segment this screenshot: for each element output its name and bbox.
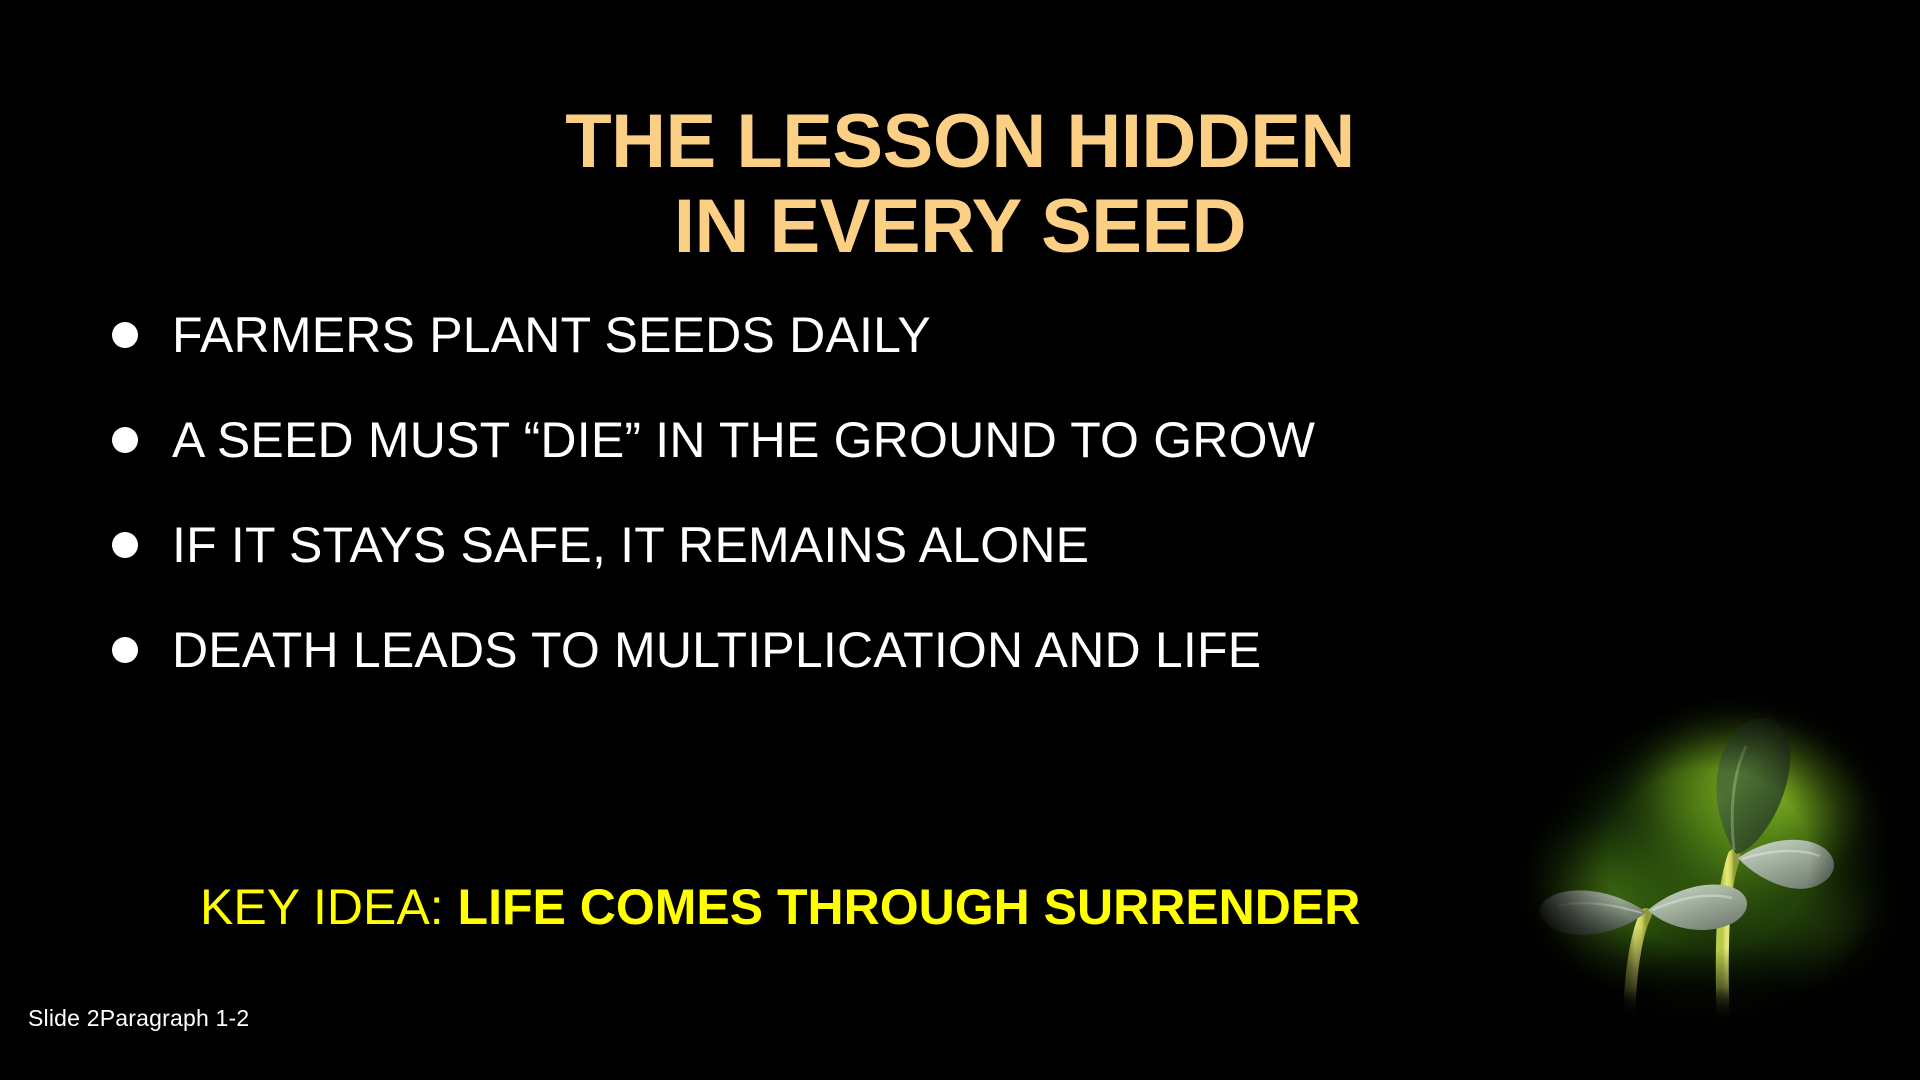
key-idea-value: LIFE COMES THROUGH SURRENDER — [458, 879, 1361, 935]
bullet-item: A SEED MUST “DIE” IN THE GROUND TO GROW — [112, 387, 1532, 492]
seedling-photo-inner — [1480, 672, 1920, 1080]
bullet-item: DEATH LEADS TO MULTIPLICATION AND LIFE — [112, 597, 1532, 702]
bullet-item-label: DEATH LEADS TO MULTIPLICATION AND LIFE — [172, 621, 1261, 679]
bullet-item-label: FARMERS PLANT SEEDS DAILY — [172, 306, 931, 364]
slide-title-line-2: IN EVERY SEED — [0, 184, 1920, 269]
bullet-point-icon — [112, 322, 138, 348]
key-idea-label: KEY IDEA: — [200, 879, 458, 935]
bullet-item: IF IT STAYS SAFE, IT REMAINS ALONE — [112, 492, 1532, 597]
bullet-item-label: IF IT STAYS SAFE, IT REMAINS ALONE — [172, 516, 1089, 574]
bullet-list: FARMERS PLANT SEEDS DAILY A SEED MUST “D… — [112, 282, 1532, 702]
bullet-point-icon — [112, 637, 138, 663]
slide-title-line-1: THE LESSON HIDDEN — [0, 99, 1920, 184]
bullet-point-icon — [112, 532, 138, 558]
seedling-photo — [1480, 672, 1920, 1080]
presentation-slide: THE LESSON HIDDEN IN EVERY SEED FARMERS … — [0, 0, 1920, 1080]
slide-title: THE LESSON HIDDEN IN EVERY SEED — [0, 99, 1920, 269]
bullet-item-label: A SEED MUST “DIE” IN THE GROUND TO GROW — [172, 411, 1315, 469]
photo-vignette — [1480, 672, 1920, 1080]
bullet-point-icon — [112, 427, 138, 453]
key-idea-line: KEY IDEA: LIFE COMES THROUGH SURRENDER — [200, 878, 1360, 936]
slide-footer-reference: Slide 2Paragraph 1-2 — [28, 1005, 249, 1032]
bullet-item: FARMERS PLANT SEEDS DAILY — [112, 282, 1532, 387]
